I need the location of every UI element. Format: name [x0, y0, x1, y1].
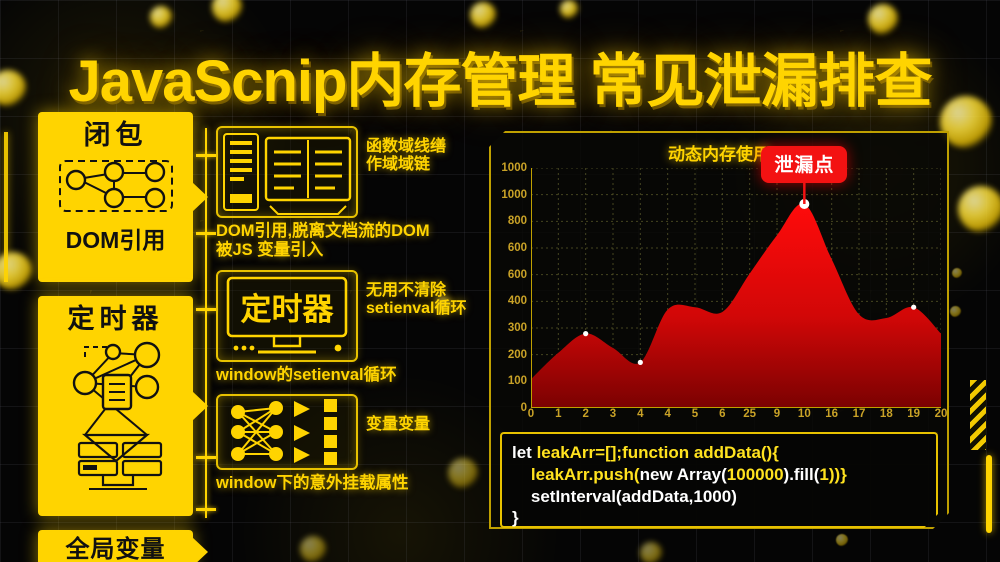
- rail-tick: [196, 308, 216, 311]
- svg-text:定时器: 定时器: [241, 292, 335, 327]
- chart-area-series: [531, 204, 941, 408]
- rail-tick: [196, 154, 216, 157]
- x-axis-tick: 19: [907, 408, 920, 420]
- y-axis-tick: 800: [489, 215, 527, 227]
- bokeh-orb: [470, 2, 496, 28]
- code-line: }: [512, 507, 926, 529]
- bokeh-orb: [150, 6, 172, 28]
- y-axis-tick: 100: [489, 375, 527, 387]
- y-axis-tick: 300: [489, 322, 527, 334]
- x-axis-tick: 20: [935, 408, 948, 420]
- y-axis-tick: 200: [489, 349, 527, 361]
- bokeh-orb: [868, 4, 898, 34]
- closure-node-graph-icon: [56, 155, 176, 217]
- x-axis-tick: 10: [798, 408, 811, 420]
- code-token: setInterval(addData,1000): [512, 487, 737, 506]
- bokeh-orb: [640, 542, 662, 562]
- bokeh-orb: [958, 186, 1000, 232]
- category-block-closure[interactable]: 闭包 DOM引用: [38, 112, 193, 282]
- y-axis-tick: 0: [489, 402, 527, 414]
- left-category-column: 闭包 DOM引用 定时器: [38, 112, 193, 562]
- detail-row-dom: 函数域线缮 作域域链: [216, 126, 484, 218]
- category-sublabel-dom-reference: DOM引用: [44, 221, 187, 255]
- bokeh-orb: [952, 268, 962, 278]
- left-edge-accent: [4, 132, 8, 282]
- code-line: let leakArr=[];function addData(){: [512, 442, 926, 464]
- category-block-global-variable[interactable]: 全局变量: [38, 530, 193, 562]
- y-axis-tick: 600: [489, 269, 527, 281]
- x-axis-tick: 17: [853, 408, 866, 420]
- code-line: setInterval(addData,1000): [512, 486, 926, 508]
- category-label-timer: 定时器: [44, 304, 187, 334]
- middle-detail-column: 函数域线缮 作域域链 DOM引用,脱离文档流的DOM 被JS 变量引入 定时器 …: [216, 126, 484, 503]
- x-axis-tick: 9: [774, 408, 780, 420]
- y-axis-tick: 600: [489, 242, 527, 254]
- x-axis-tick: 18: [880, 408, 893, 420]
- hazard-stripe-decoration: [970, 380, 986, 450]
- rail-tick: [196, 232, 216, 235]
- code-snippet-block[interactable]: let leakArr=[];function addData(){ leakA…: [500, 432, 938, 528]
- page-title: JavaScnip内存管理 常见泄漏排查: [0, 34, 1000, 118]
- x-axis-tick: 5: [692, 408, 698, 420]
- code-token: leakArr=[];function addData(){: [537, 443, 779, 462]
- rail-tick: [196, 508, 216, 511]
- x-axis-tick: 4: [637, 408, 643, 420]
- x-axis-labels: 01234456259101617181920: [531, 408, 941, 428]
- bokeh-orb: [836, 534, 848, 546]
- x-axis-tick: 6: [719, 408, 725, 420]
- x-axis-tick: 4: [664, 408, 670, 420]
- detail-row-variable: 变量变量: [216, 394, 484, 470]
- chart-plot-area: [531, 168, 941, 408]
- memory-chart: 100010008006006004003002001000 012344562…: [489, 160, 949, 430]
- x-axis-tick: 0: [528, 408, 534, 420]
- detail-caption-variable: 变量变量: [366, 394, 430, 434]
- x-axis-tick: 16: [825, 408, 838, 420]
- code-token: ))}: [829, 465, 847, 484]
- detail-note-window-property: window下的意外挂载属性: [216, 474, 484, 493]
- detail-caption-setinterval: 无用不清除 setienval循环: [366, 270, 467, 318]
- infographic-canvas: JavaScnip内存管理 常见泄漏排查 闭包 DOM引用 定时器: [0, 0, 1000, 562]
- neural-network-icon: [216, 394, 358, 470]
- y-axis-tick: 1000: [489, 162, 527, 174]
- category-block-timer[interactable]: 定时器: [38, 296, 193, 516]
- bokeh-orb: [300, 536, 326, 562]
- x-axis-tick: 2: [582, 408, 588, 420]
- code-token: 100000: [727, 465, 784, 484]
- connector-rail: [205, 128, 207, 518]
- code-token: 1: [819, 465, 828, 484]
- y-axis-tick: 1000: [489, 189, 527, 201]
- monitor-timer-icon: 定时器: [216, 270, 358, 362]
- bokeh-orb: [950, 306, 961, 317]
- detail-note-window-setinterval: window的setienval循环: [216, 366, 484, 385]
- code-line: leakArr.push(new Array(100000).fill(1))}: [512, 464, 926, 486]
- detail-note-dom-reference: DOM引用,脱离文档流的DOM 被JS 变量引入: [216, 222, 484, 260]
- x-axis-tick: 3: [610, 408, 616, 420]
- rail-tick: [196, 456, 216, 459]
- category-label-closure: 闭包: [44, 120, 187, 150]
- code-token: [512, 465, 531, 484]
- server-document-icon: [216, 126, 358, 218]
- y-axis-tick: 400: [489, 295, 527, 307]
- x-axis-tick: 25: [743, 408, 756, 420]
- right-edge-accent: [986, 455, 992, 533]
- leak-point-badge[interactable]: 泄漏点: [761, 146, 847, 183]
- code-token: }: [512, 508, 519, 527]
- category-label-global-variable: 全局变量: [44, 537, 187, 562]
- detail-caption-scope-chain: 函数域线缮 作域域链: [366, 126, 446, 174]
- code-token: new Array(: [640, 465, 727, 484]
- bokeh-orb: [212, 0, 242, 22]
- y-axis-labels: 100010008006006004003002001000: [489, 160, 527, 405]
- code-token: let: [512, 443, 537, 462]
- code-token: leakArr.push(: [531, 465, 640, 484]
- bokeh-orb: [560, 0, 578, 18]
- timer-network-tree-icon: [55, 339, 177, 497]
- detail-row-timer: 定时器 无用不清除 setienval循环: [216, 270, 484, 362]
- code-token: ).fill(: [784, 465, 820, 484]
- x-axis-tick: 1: [555, 408, 561, 420]
